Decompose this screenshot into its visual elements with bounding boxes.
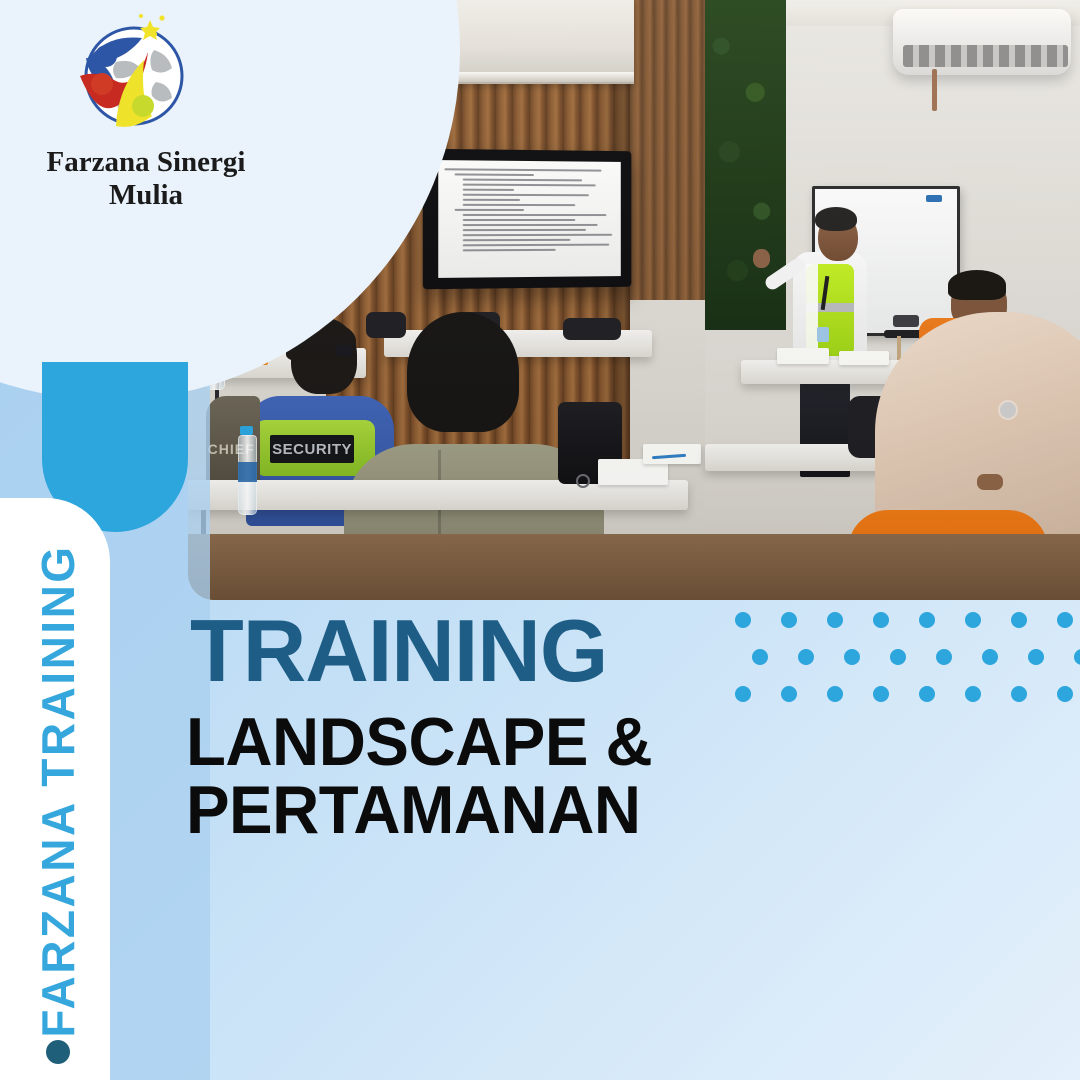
vertical-brand-label: FARZANA TRAINING xyxy=(23,511,93,1071)
dot-grid-decoration xyxy=(735,612,1080,723)
corner-dot xyxy=(46,1040,70,1064)
globe-people-logo-icon xyxy=(58,14,208,154)
dot-row xyxy=(752,649,1080,665)
dot-row xyxy=(735,686,1080,702)
brand-name: Farzana Sinergi Mulia xyxy=(6,146,286,212)
poster-canvas: SECURITY CHIEF xyxy=(0,0,1080,1080)
page-title: TRAINING xyxy=(190,607,607,695)
dot-row xyxy=(735,612,1080,628)
page-subtitle: LANDSCAPE & PERTAMANAN xyxy=(186,708,1044,844)
